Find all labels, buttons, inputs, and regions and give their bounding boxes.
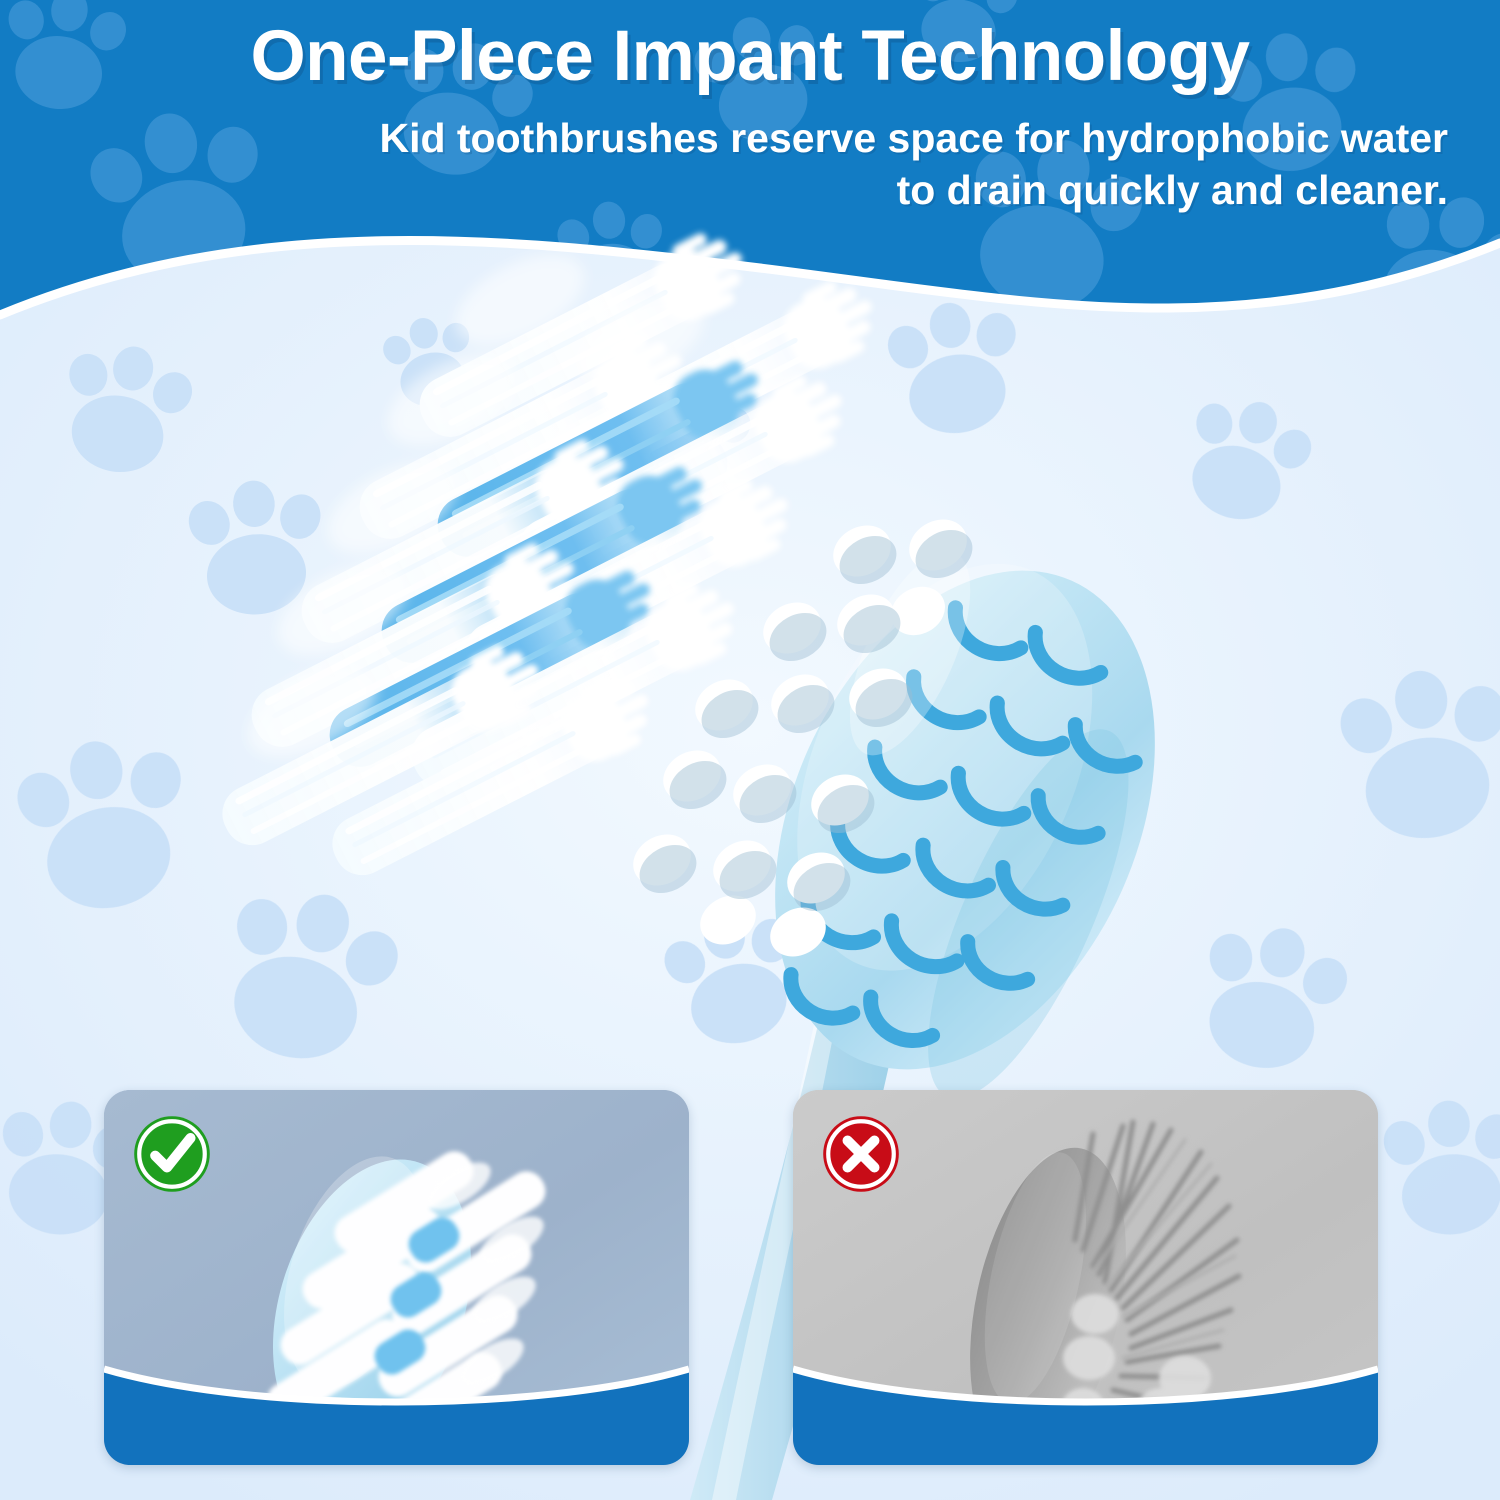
subtitle-line-1: Kid toothbrushes reserve space for hydro… <box>80 112 1448 164</box>
x-circle-icon <box>819 1112 903 1196</box>
comparison-card-good[interactable]: The bristles are not easy to fall off <box>104 1090 689 1465</box>
brush-head <box>701 511 1228 1130</box>
comparison-card-bad[interactable]: Bristles fall out and blow out easily <box>793 1090 1378 1465</box>
bad-caption-band <box>793 1347 1378 1465</box>
page-title: One-Plece Impant Technology <box>0 16 1500 97</box>
subtitle-line-2: to drain quickly and cleaner. <box>80 164 1448 216</box>
good-caption-band <box>104 1347 689 1465</box>
page-subtitle: Kid toothbrushes reserve space for hydro… <box>80 112 1448 217</box>
product-feature-graphic: One-Plece Impant Technology Kid toothbru… <box>0 0 1500 1500</box>
check-circle-icon <box>130 1112 214 1196</box>
